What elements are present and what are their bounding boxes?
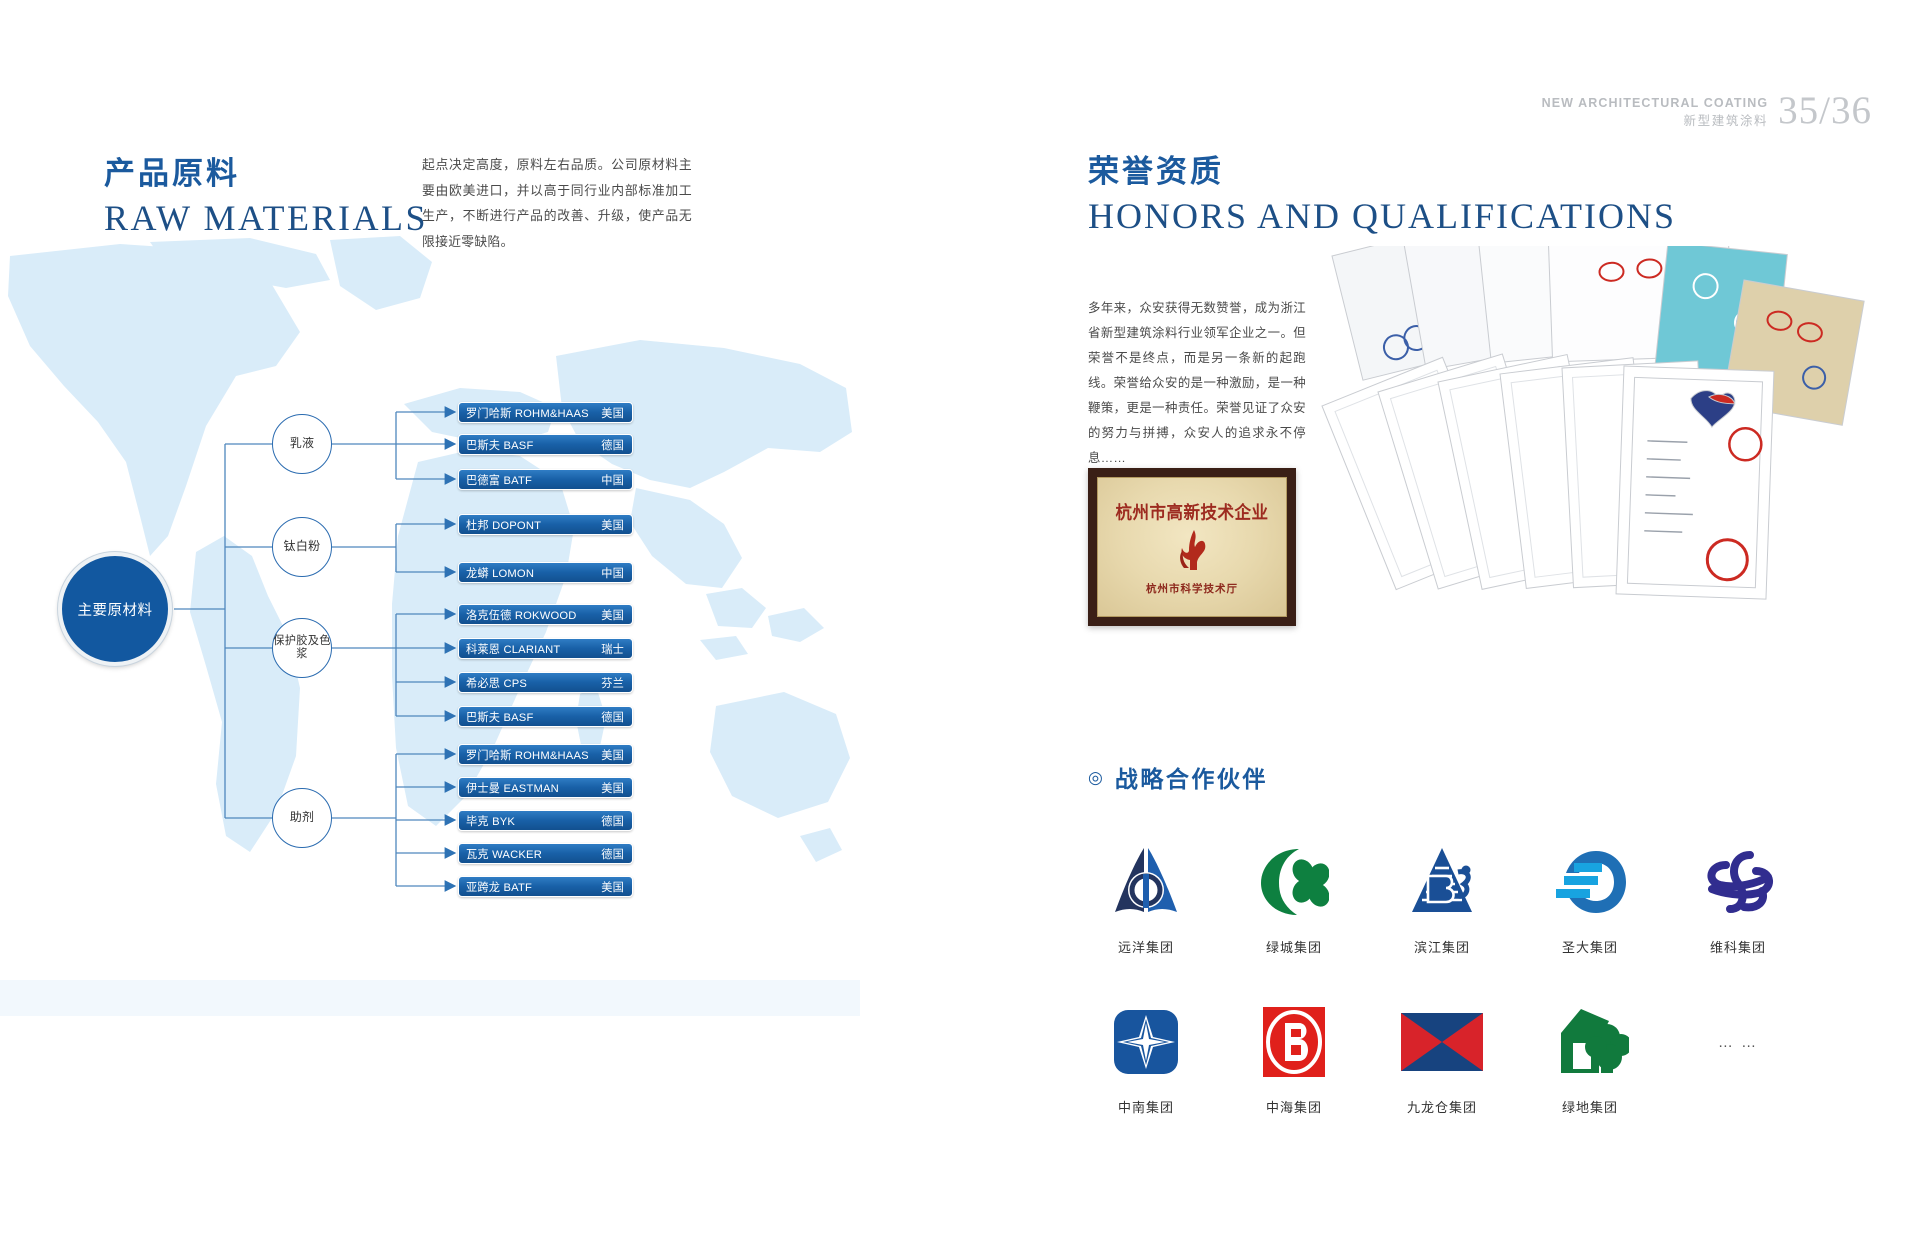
brochure-spread: NEW ARCHITECTURAL COATING 新型建筑涂料 35/36 产… <box>0 0 1920 1244</box>
partner-name: 圣大集团 <box>1562 937 1618 956</box>
partner-cell[interactable]: 九龙仓集团 <box>1368 1000 1516 1116</box>
supplier-pill[interactable]: 希必思 CPS 芬兰 <box>458 672 633 693</box>
partner-cell[interactable]: 绿地集团 <box>1516 1000 1664 1116</box>
supplier-name: 科莱恩 CLARIANT <box>466 641 560 657</box>
supplier-name: 瓦克 WACKER <box>466 846 542 862</box>
red-b-circle-icon <box>1261 1000 1327 1084</box>
raw-materials-diagram: 主要原材料 乳液 钛白粉 保护胶及色浆 助剂 罗门哈斯 ROHM&HAAS 美国… <box>0 236 860 1016</box>
award-plaque-face: 杭州市高新技术企业 杭州市科学技术厅 <box>1097 477 1287 617</box>
supplier-pill[interactable]: 龙蟒 LOMON 中国 <box>458 562 633 583</box>
partner-cell[interactable]: 滨江集团 <box>1368 840 1516 956</box>
award-plaque-title: 杭州市高新技术企业 <box>1116 498 1269 524</box>
partner-cell[interactable]: 圣大集团 <box>1516 840 1664 956</box>
supplier-pill[interactable]: 罗门哈斯 ROHM&HAAS 美国 <box>458 402 633 423</box>
supplier-country: 德国 <box>601 813 624 829</box>
diagram-category-additives[interactable]: 助剂 <box>272 788 332 848</box>
supplier-name: 罗门哈斯 ROHM&HAAS <box>466 405 589 421</box>
partner-name: 中海集团 <box>1266 1097 1322 1116</box>
crescent-clover-icon <box>1259 840 1329 924</box>
supplier-country: 美国 <box>601 607 624 623</box>
supplier-pill[interactable]: 罗门哈斯 ROHM&HAAS 美国 <box>458 744 633 765</box>
supplier-pill[interactable]: 瓦克 WACKER 德国 <box>458 843 633 864</box>
left-page: 产品原料 RAW MATERIALS 起点决定高度，原料左右品质。公司原材料主要… <box>0 0 860 1244</box>
diagram-category-label: 保护胶及色浆 <box>273 635 331 661</box>
honors-title-en: HONORS AND QUALIFICATIONS <box>1088 195 1676 237</box>
flame-emblem-icon <box>1171 530 1213 575</box>
partner-cell[interactable]: 远洋集团 <box>1072 840 1220 956</box>
supplier-name: 罗门哈斯 ROHM&HAAS <box>466 747 589 763</box>
supplier-country: 美国 <box>601 747 624 763</box>
partner-name: 远洋集团 <box>1118 937 1174 956</box>
award-plaque: 杭州市高新技术企业 杭州市科学技术厅 <box>1088 468 1296 626</box>
partners-heading: ◎ 战略合作伙伴 <box>1088 760 1268 794</box>
diagram-hub-label: 主要原材料 <box>78 599 153 620</box>
bullet-circle-icon: ◎ <box>1088 769 1103 786</box>
certificates-fan-photo <box>1312 246 1912 666</box>
supplier-country: 美国 <box>601 879 624 895</box>
supplier-country: 芬兰 <box>601 675 624 691</box>
supplier-name: 伊士曼 EASTMAN <box>466 780 559 796</box>
supplier-country: 瑞士 <box>601 641 624 657</box>
house-tree-icon <box>1551 1000 1629 1084</box>
supplier-pill[interactable]: 亚跨龙 BATF 美国 <box>458 876 633 897</box>
raw-materials-title-block: 产品原料 RAW MATERIALS <box>104 148 428 239</box>
partners-more-ellipsis: … … <box>1664 1000 1812 1084</box>
diagram-category-protective-colloid[interactable]: 保护胶及色浆 <box>272 618 332 678</box>
supplier-name: 巴斯夫 BASF <box>466 437 534 453</box>
supplier-name: 毕克 BYK <box>466 813 515 829</box>
diagram-hub-node[interactable]: 主要原材料 <box>58 552 172 666</box>
c-bars-icon <box>1552 840 1628 924</box>
supplier-country: 德国 <box>601 709 624 725</box>
partner-cell[interactable]: 绿城集团 <box>1220 840 1368 956</box>
triangle-b-icon <box>1406 840 1478 924</box>
diagram-category-label: 助剂 <box>290 811 315 825</box>
diagram-category-titanium-dioxide[interactable]: 钛白粉 <box>272 517 332 577</box>
supplier-name: 杜邦 DOPONT <box>466 517 541 533</box>
supplier-pill[interactable]: 毕克 BYK 德国 <box>458 810 633 831</box>
honors-title-cn: 荣誉资质 <box>1088 146 1676 191</box>
partner-name: 维科集团 <box>1710 937 1766 956</box>
supplier-pill[interactable]: 巴斯夫 BASF 德国 <box>458 706 633 727</box>
supplier-pill[interactable]: 科莱恩 CLARIANT 瑞士 <box>458 638 633 659</box>
partners-heading-label: 战略合作伙伴 <box>1115 760 1268 794</box>
page-title-en: RAW MATERIALS <box>104 197 428 239</box>
supplier-pill[interactable]: 杜邦 DOPONT 美国 <box>458 514 633 535</box>
interlock-loops-icon <box>1700 840 1776 924</box>
supplier-name: 龙蟒 LOMON <box>466 565 534 581</box>
partner-name: 中南集团 <box>1118 1097 1174 1116</box>
supplier-country: 德国 <box>601 846 624 862</box>
honors-title-block: 荣誉资质 HONORS AND QUALIFICATIONS <box>1088 146 1676 237</box>
supplier-name: 巴德富 BATF <box>466 472 532 488</box>
diagram-category-label: 乳液 <box>290 437 315 451</box>
partner-name: 绿地集团 <box>1562 1097 1618 1116</box>
red-blue-bowtie-icon <box>1399 1000 1485 1084</box>
supplier-name: 希必思 CPS <box>466 675 527 691</box>
supplier-country: 中国 <box>601 565 624 581</box>
partner-name: 绿城集团 <box>1266 937 1322 956</box>
square-star-icon <box>1111 1000 1181 1084</box>
supplier-country: 美国 <box>601 405 624 421</box>
partner-logo-row: 远洋集团 绿城集团 <box>1072 840 1812 956</box>
partner-logo-grid: 远洋集团 绿城集团 <box>1072 840 1812 1116</box>
right-page: 荣誉资质 HONORS AND QUALIFICATIONS 多年来，众安获得无… <box>960 0 1920 1244</box>
supplier-country: 中国 <box>601 472 624 488</box>
diagram-category-label: 钛白粉 <box>284 540 321 554</box>
supplier-name: 洛克伍德 ROKWOOD <box>466 607 577 623</box>
partner-cell[interactable]: 中南集团 <box>1072 1000 1220 1116</box>
partner-name: 滨江集团 <box>1414 937 1470 956</box>
partner-logo-row: 中南集团 中海集团 <box>1072 1000 1812 1116</box>
supplier-pill[interactable]: 巴德富 BATF 中国 <box>458 469 633 490</box>
award-plaque-issuer: 杭州市科学技术厅 <box>1146 581 1238 596</box>
partner-cell[interactable]: 维科集团 <box>1664 840 1812 956</box>
supplier-country: 美国 <box>601 517 624 533</box>
honors-intro: 多年来，众安获得无数赞誉，成为浙江省新型建筑涂料行业领军企业之一。但荣誉不是终点… <box>1088 296 1306 471</box>
diagram-category-emulsion[interactable]: 乳液 <box>272 414 332 474</box>
supplier-pill[interactable]: 伊士曼 EASTMAN 美国 <box>458 777 633 798</box>
supplier-name: 巴斯夫 BASF <box>466 709 534 725</box>
supplier-name: 亚跨龙 BATF <box>466 879 532 895</box>
sail-circle-icon <box>1111 840 1181 924</box>
supplier-country: 德国 <box>601 437 624 453</box>
partner-cell[interactable]: 中海集团 <box>1220 1000 1368 1116</box>
partner-name: 九龙仓集团 <box>1407 1097 1477 1116</box>
supplier-pill[interactable]: 巴斯夫 BASF 德国 <box>458 434 633 455</box>
supplier-pill[interactable]: 洛克伍德 ROKWOOD 美国 <box>458 604 633 625</box>
supplier-country: 美国 <box>601 780 624 796</box>
page-title-cn: 产品原料 <box>104 148 428 193</box>
